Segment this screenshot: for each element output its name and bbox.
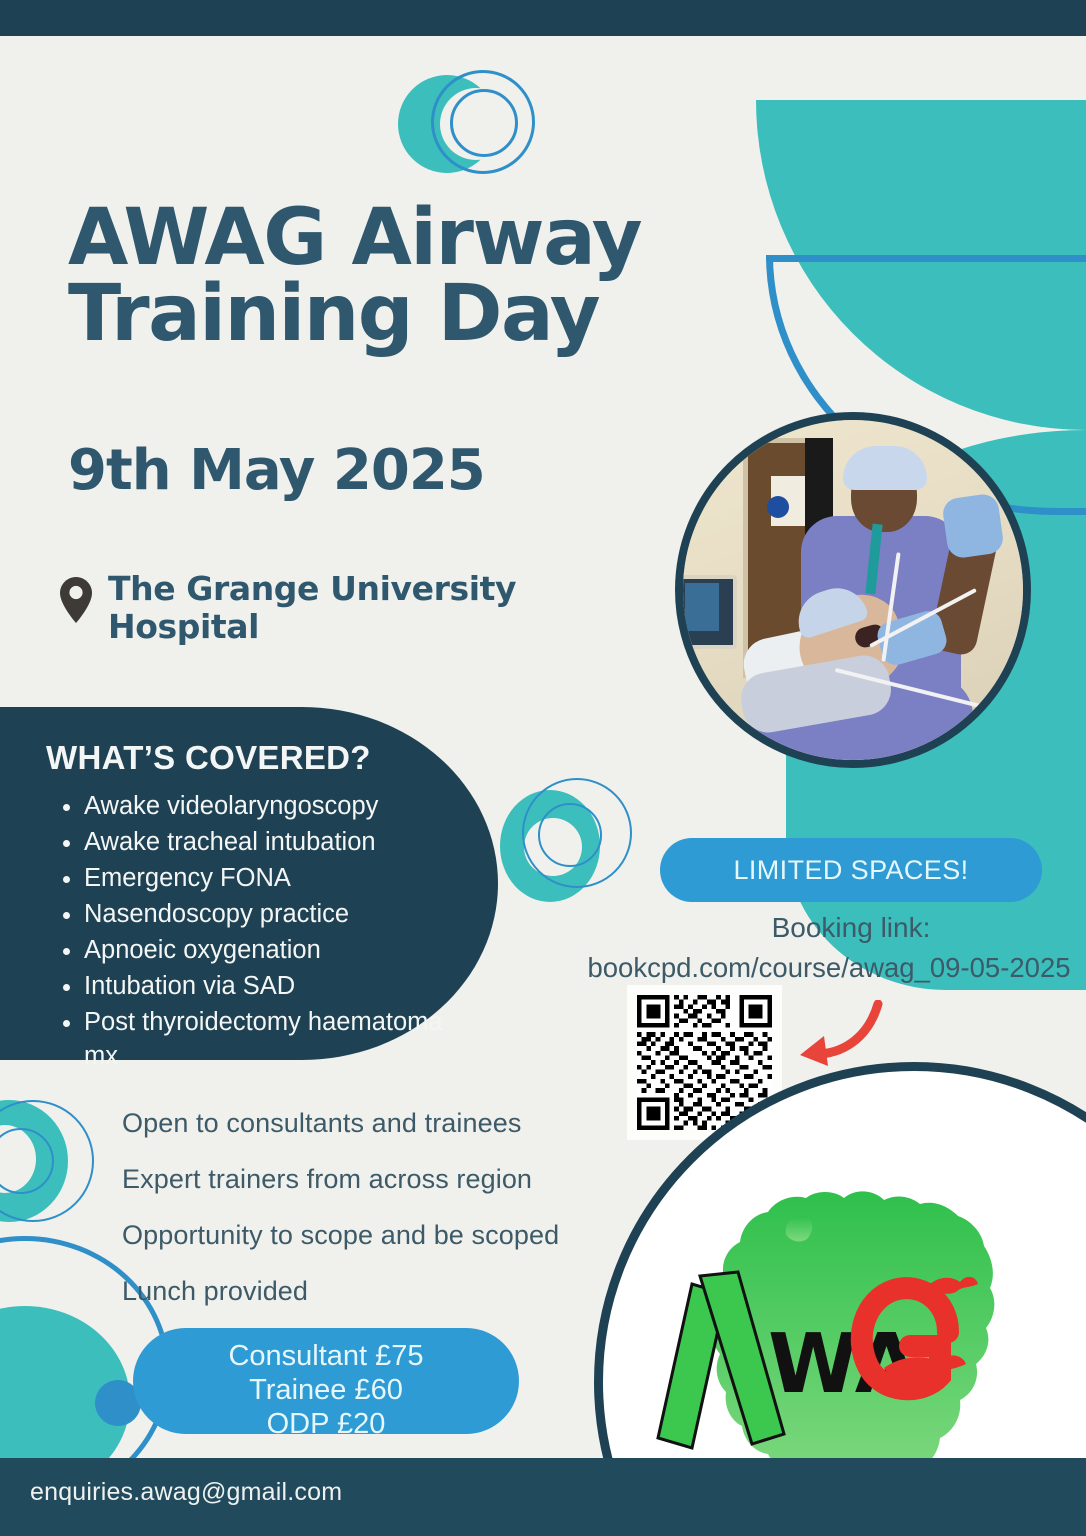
page-title: AWAG Airway Training Day: [68, 200, 828, 353]
list-item: Awake tracheal intubation: [84, 825, 474, 860]
booking-url[interactable]: bookcpd.com/course/awag_09-05-2025: [574, 952, 1084, 984]
whats-covered-list: Awake videolaryngoscopy Awake tracheal i…: [50, 789, 474, 1075]
contact-email[interactable]: enquiries.awag@gmail.com: [30, 1478, 342, 1507]
event-date: 9th May 2025: [68, 438, 485, 503]
map-pin-icon: [58, 576, 94, 629]
whats-covered-panel: WHAT’S COVERED? Awake videolaryngoscopy …: [0, 707, 498, 1060]
feature-item: Expert trainers from across region: [122, 1164, 682, 1195]
venue-line-1: The Grange University: [108, 569, 516, 608]
features-list: Open to consultants and trainees Expert …: [122, 1108, 682, 1332]
list-item: Awake videolaryngoscopy: [84, 789, 474, 824]
training-photo: [675, 412, 1031, 768]
pricing-badge: Consultant £75 Trainee £60 ODP £20: [133, 1328, 519, 1434]
top-band: [0, 0, 1086, 36]
feature-item: Open to consultants and trainees: [122, 1108, 682, 1139]
footer-band: enquiries.awag@gmail.com: [0, 1458, 1086, 1536]
ring-outline-small: [450, 89, 518, 157]
title-line-2: Training Day: [68, 269, 599, 359]
list-item: Emergency FONA: [84, 861, 474, 896]
list-item: Post thyroidectomy haematoma mx: [84, 1005, 474, 1075]
price-trainee: Trainee £60: [249, 1374, 403, 1406]
poster-root: AWAG Airway Training Day 9th May 2025 Th…: [0, 0, 1086, 1536]
decorative-rings-bottom-left: [0, 1100, 120, 1230]
list-item: Apnoeic oxygenation: [84, 933, 474, 968]
list-item: Nasendoscopy practice: [84, 897, 474, 932]
decorative-rings-mid: [500, 778, 650, 928]
price-consultant: Consultant £75: [228, 1340, 423, 1372]
price-odp: ODP £20: [267, 1408, 386, 1440]
feature-item: Lunch provided: [122, 1276, 682, 1307]
venue-line-2: Hospital: [108, 607, 259, 646]
venue-name: The Grange University Hospital: [108, 570, 516, 646]
photo-content: [683, 420, 1023, 760]
limited-spaces-badge: LIMITED SPACES!: [660, 838, 1042, 902]
curved-arrow-icon: [790, 1000, 885, 1070]
venue-block: The Grange University Hospital: [58, 570, 618, 646]
whats-covered-heading: WHAT’S COVERED?: [46, 739, 371, 777]
decorative-rings-top: [398, 70, 558, 180]
list-item: Intubation via SAD: [84, 969, 474, 1004]
booking-link-label: Booking link:: [660, 912, 1042, 944]
feature-item: Opportunity to scope and be scoped: [122, 1220, 682, 1251]
